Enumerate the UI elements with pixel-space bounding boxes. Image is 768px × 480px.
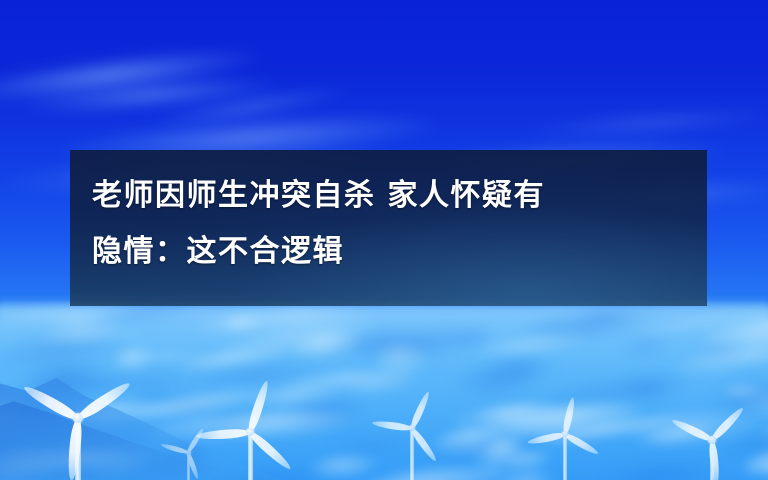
headline-overlay-panel: 老师因师生冲突自杀 家人怀疑有 隐情：这不合逻辑 (70, 150, 707, 306)
headline-line-2: 隐情：这不合逻辑 (92, 224, 685, 280)
banner-image: 老师因师生冲突自杀 家人怀疑有 隐情：这不合逻辑 (0, 0, 768, 480)
headline-line-1: 老师因师生冲突自杀 家人怀疑有 (92, 168, 685, 224)
